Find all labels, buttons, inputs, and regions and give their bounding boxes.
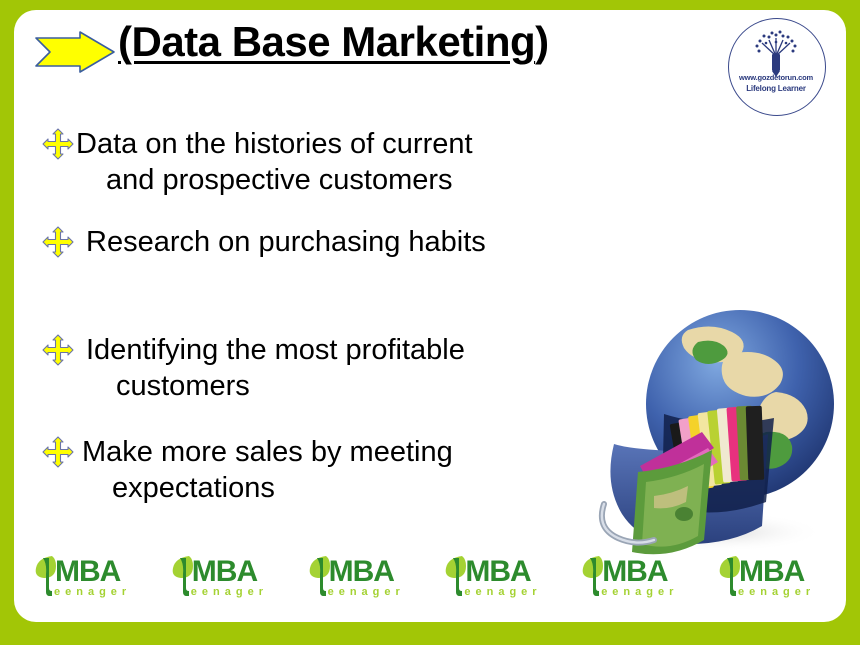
teenager-word: eenager: [191, 586, 268, 598]
bullet-line-2: and prospective customers: [76, 162, 473, 198]
bullet-text: Research on purchasing habits: [86, 224, 486, 260]
brand-logo-badge: www.gozdetorun.com Lifelong Learner: [726, 16, 830, 120]
bullet-line-1: Research on purchasing habits: [86, 226, 486, 258]
footer-logo-strip: MBA eenager MBA eenager MBA eenager: [14, 548, 846, 604]
bullet-line-2: customers: [86, 368, 465, 404]
tmba-logo: MBA eenager: [304, 552, 422, 600]
tmba-logo: MBA eenager: [167, 552, 285, 600]
page-title-underlined: (Data Base Marketing: [118, 18, 535, 65]
bullet-item: Make more sales by meeting expectations: [42, 434, 612, 506]
tmba-logo: MBA eenager: [714, 552, 832, 600]
teenager-word: eenager: [54, 586, 131, 598]
four-way-arrow-icon: [42, 226, 74, 258]
page-title-tail: ): [535, 18, 549, 65]
tmba-logo: MBA eenager: [440, 552, 558, 600]
bullet-line-1: Identifying the most profitable: [86, 334, 465, 366]
right-arrow-icon: [34, 30, 116, 74]
bullet-text: Make more sales by meeting expectations: [82, 434, 453, 506]
teenager-word: eenager: [328, 586, 405, 598]
four-way-arrow-icon: [42, 436, 74, 468]
bullet-text: Identifying the most profitable customer…: [86, 332, 465, 404]
globe-filing-cabinet-image: [580, 296, 846, 564]
slide-content-panel: (Data Base Marketing): [14, 10, 846, 622]
tmba-logo: MBA eenager: [577, 552, 695, 600]
bullet-text: Data on the histories of current and pro…: [76, 126, 473, 198]
teenager-word: eenager: [464, 586, 541, 598]
teenager-word: eenager: [601, 586, 678, 598]
footer-green-band: [0, 622, 860, 645]
mba-word: MBA: [55, 555, 120, 589]
bullet-line-1: Make more sales by meeting: [82, 436, 453, 468]
tree-pencil-icon: [750, 30, 802, 78]
title-row: (Data Base Marketing): [14, 14, 774, 86]
logo-tagline: Lifelong Learner: [726, 84, 826, 93]
teenager-word: eenager: [738, 586, 815, 598]
bullet-item: Identifying the most profitable customer…: [42, 332, 612, 404]
mba-word: MBA: [602, 555, 667, 589]
bullet-line-2: expectations: [82, 470, 453, 506]
bullet-line-1: Data on the histories of current: [76, 128, 473, 160]
slide-canvas: (Data Base Marketing): [0, 0, 860, 645]
tmba-logo: MBA eenager: [30, 552, 148, 600]
mba-word: MBA: [465, 555, 530, 589]
four-way-arrow-icon: [42, 128, 74, 160]
mba-word: MBA: [739, 555, 804, 589]
page-title: (Data Base Marketing): [118, 18, 549, 66]
bullet-item: Research on purchasing habits: [42, 224, 612, 260]
mba-word: MBA: [192, 555, 257, 589]
mba-word: MBA: [329, 555, 394, 589]
four-way-arrow-icon: [42, 334, 74, 366]
logo-website: www.gozdetorun.com: [726, 73, 826, 82]
bullet-item: Data on the histories of current and pro…: [42, 126, 612, 198]
